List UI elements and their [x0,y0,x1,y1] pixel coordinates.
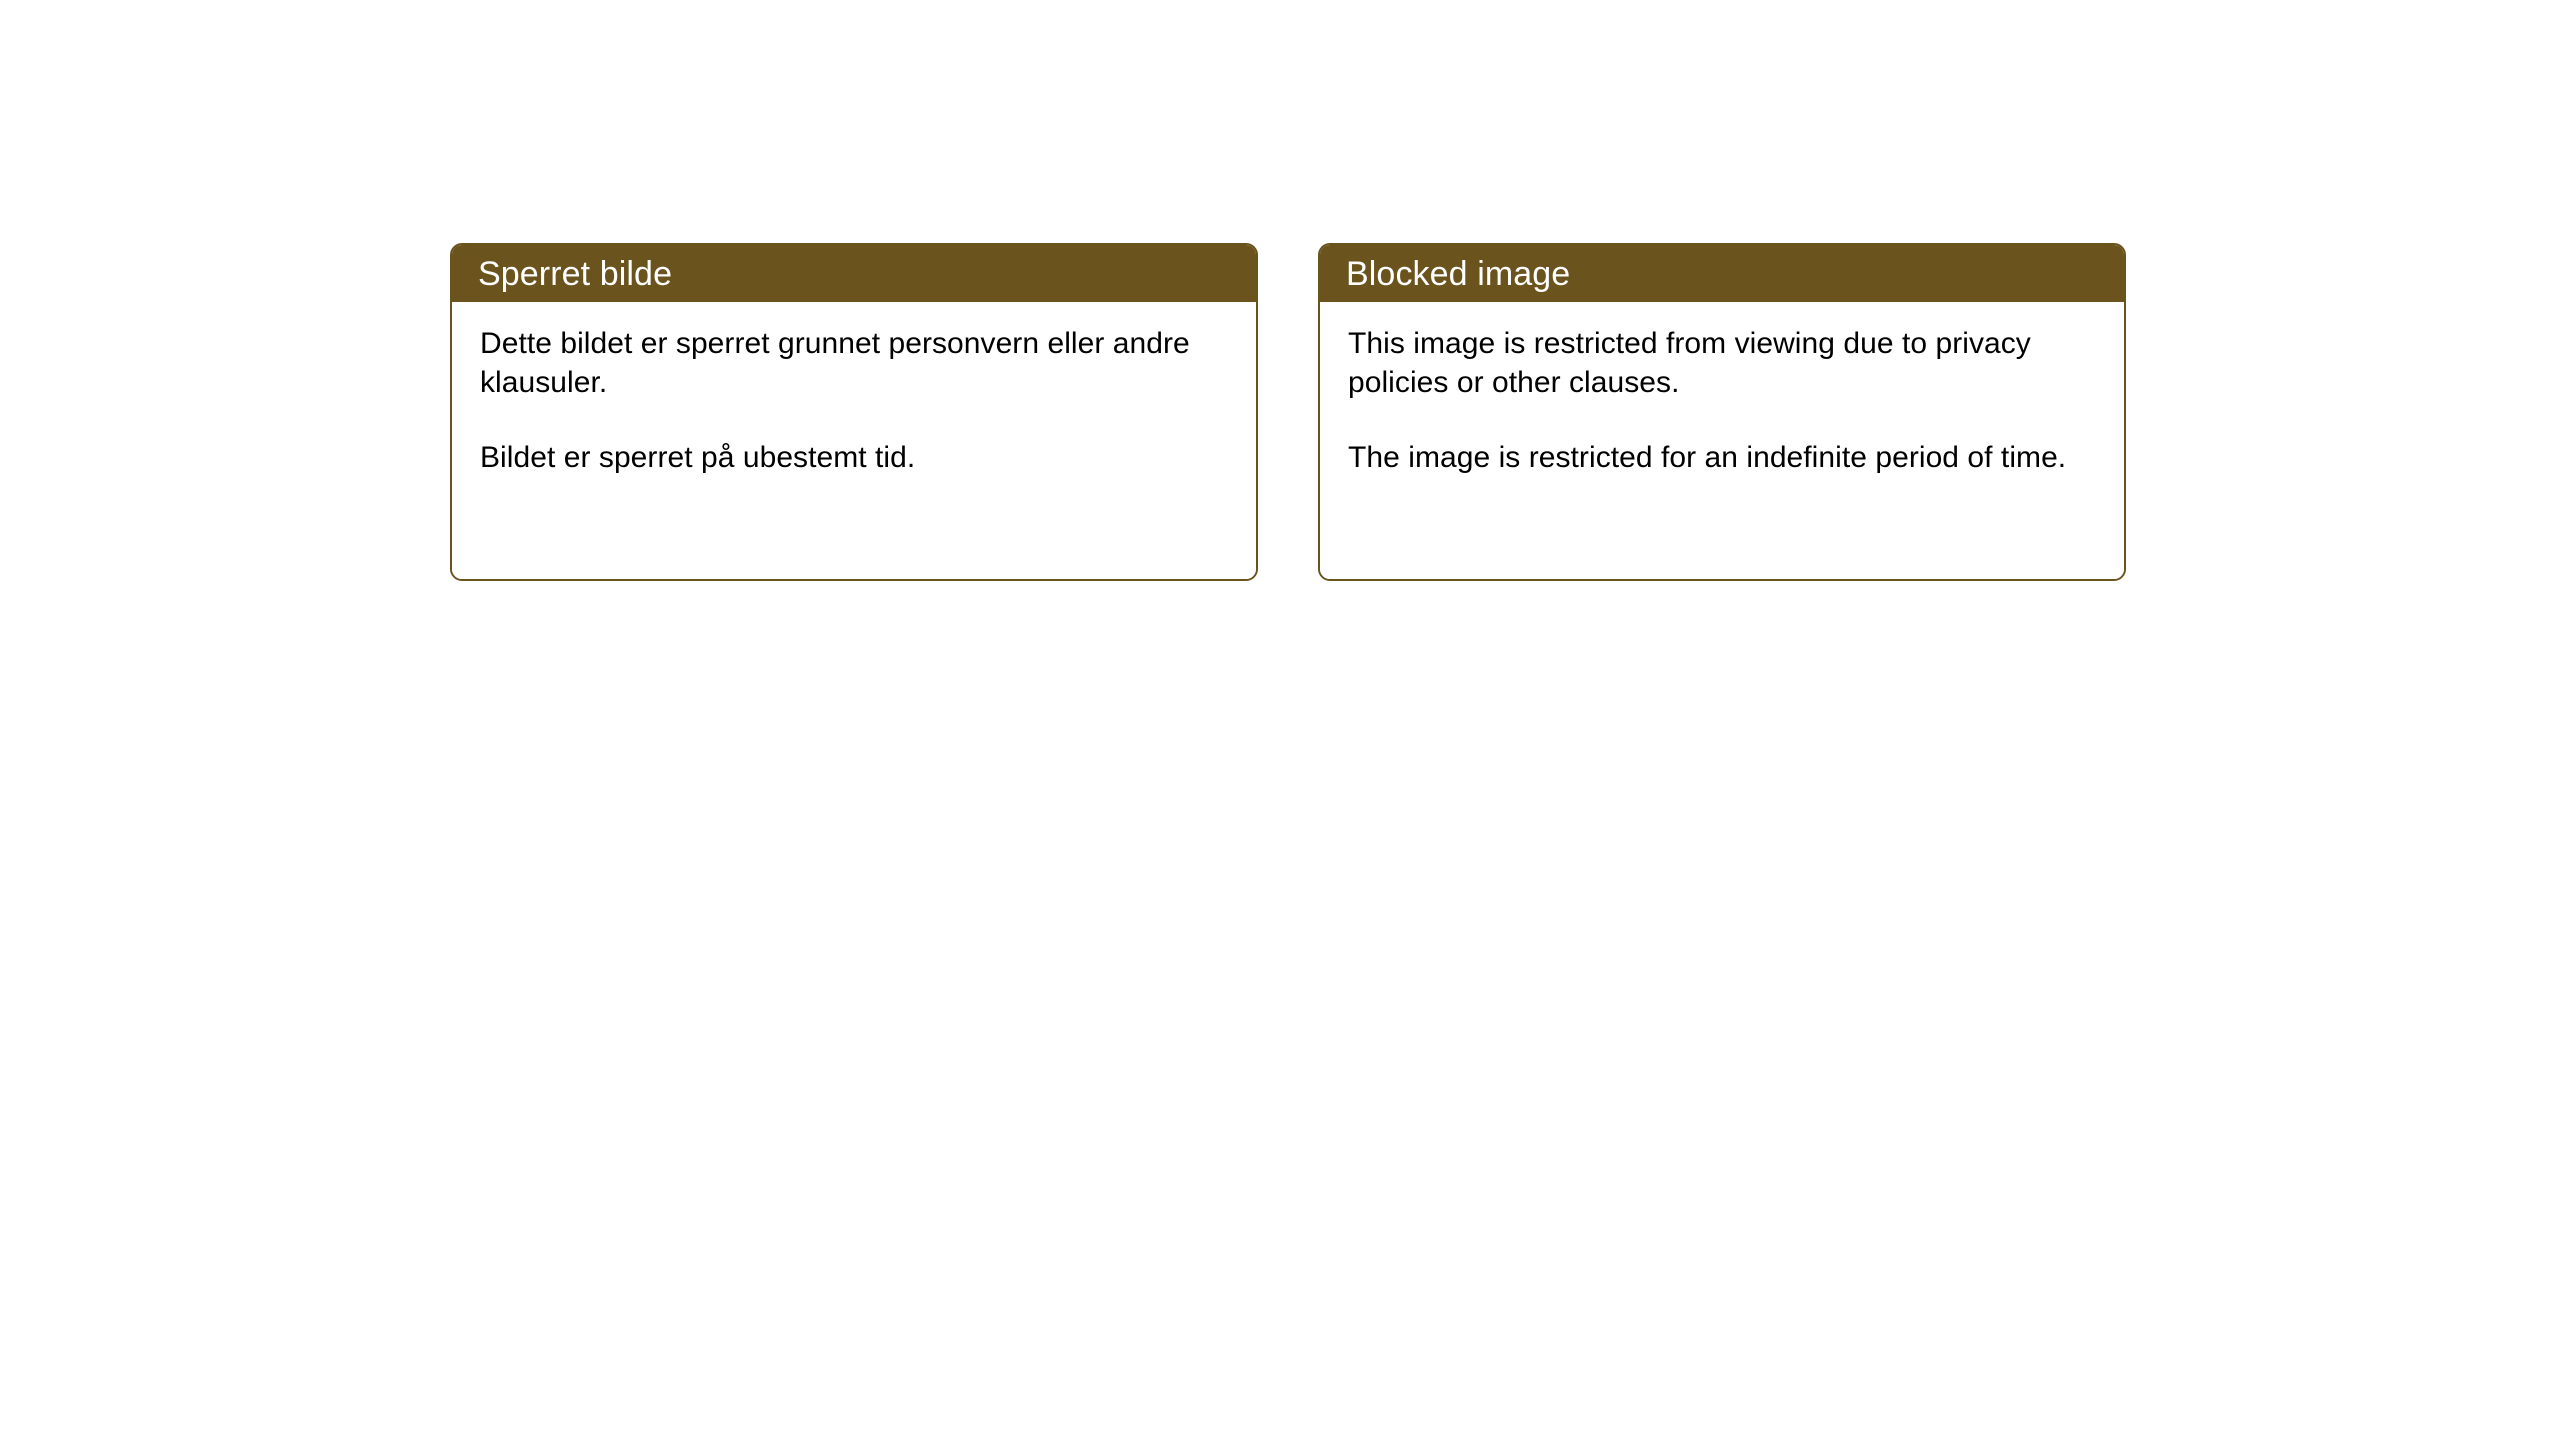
blocked-image-notice-norwegian: Sperret bilde Dette bildet er sperret gr… [450,243,1258,581]
notice-paragraph-duration-english: The image is restricted for an indefinit… [1348,438,2098,477]
notice-paragraph-duration-norwegian: Bildet er sperret på ubestemt tid. [480,438,1230,477]
notice-title-english: Blocked image [1346,257,1570,291]
notice-paragraph-reason-norwegian: Dette bildet er sperret grunnet personve… [480,324,1230,402]
notice-header-norwegian: Sperret bilde [452,245,1256,302]
notice-title-norwegian: Sperret bilde [478,257,672,291]
notice-body-norwegian: Dette bildet er sperret grunnet personve… [452,302,1256,579]
notice-body-english: This image is restricted from viewing du… [1320,302,2124,579]
blocked-image-notices: Sperret bilde Dette bildet er sperret gr… [450,243,2126,581]
blocked-image-notice-english: Blocked image This image is restricted f… [1318,243,2126,581]
notice-paragraph-reason-english: This image is restricted from viewing du… [1348,324,2098,402]
notice-header-english: Blocked image [1320,245,2124,302]
